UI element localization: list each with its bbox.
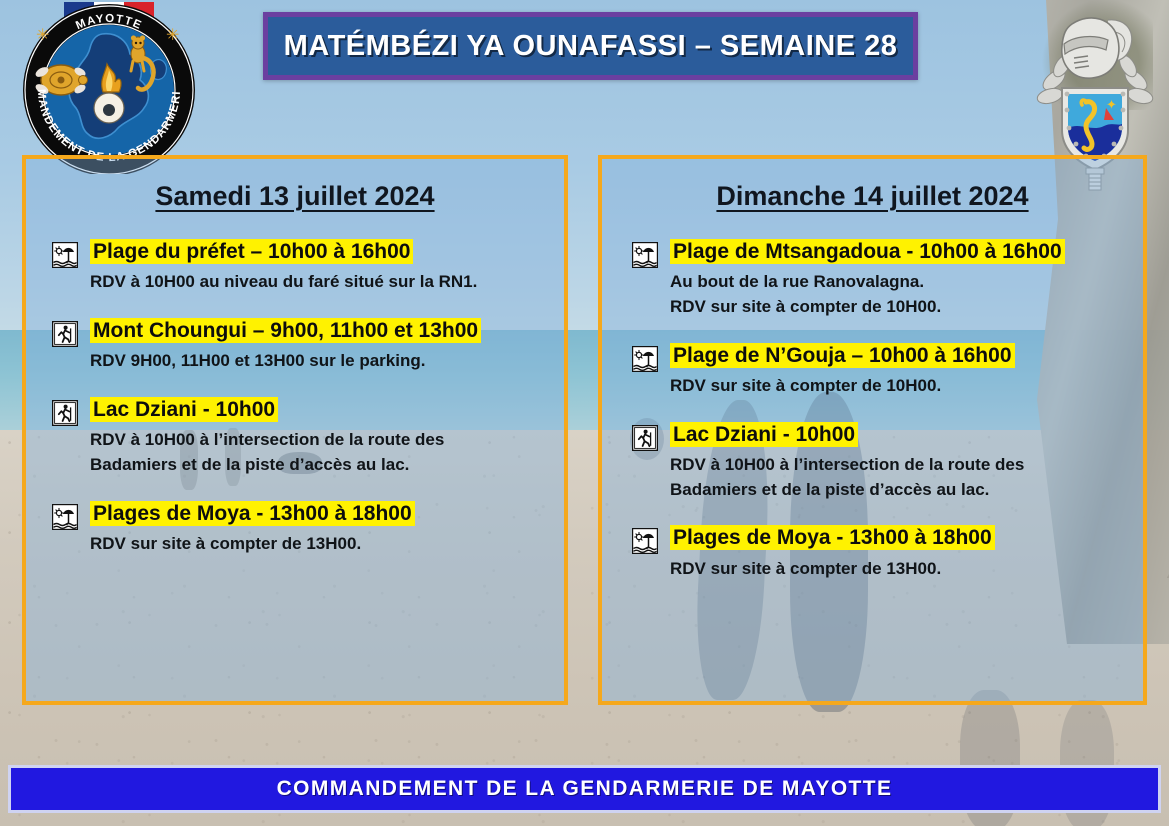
event-item: Lac Dziani - 10h00RDV à 10H00 à l’inters…: [26, 396, 564, 478]
event-title: Plage du préfet – 10h00 à 16h00: [90, 239, 413, 264]
event-body: Plage du préfet – 10h00 à 16h00RDV à 10H…: [90, 238, 564, 295]
event-item: Plages de Moya - 13h00 à 18h00RDV sur si…: [26, 500, 564, 557]
event-detail-line: RDV à 10H00 à l’intersection de la route…: [90, 428, 564, 453]
page-title: MATÉMBÉZI YA OUNAFASSI – SEMAINE 28: [284, 30, 898, 63]
footer-banner: COMMANDEMENT DE LA GENDARMERIE DE MAYOTT…: [8, 765, 1161, 813]
event-detail-line: Badamiers et de la piste d’accès au lac.: [670, 478, 1143, 503]
event-title: Lac Dziani - 10h00: [90, 397, 278, 422]
beach-icon: [52, 504, 78, 530]
day-panel-saturday: Samedi 13 juillet 2024 Plage du préfet –…: [22, 155, 568, 705]
event-title: Plage de N’Gouja – 10h00 à 16h00: [670, 343, 1015, 368]
event-body: Plage de Mtsangadoua - 10h00 à 16h00Au b…: [670, 238, 1143, 320]
event-item: Plage du préfet – 10h00 à 16h00RDV à 10H…: [26, 238, 564, 295]
event-title: Mont Choungui – 9h00, 11h00 et 13h00: [90, 318, 481, 343]
event-body: Plage de N’Gouja – 10h00 à 16h00RDV sur …: [670, 342, 1143, 399]
event-details: RDV à 10H00 à l’intersection de la route…: [670, 453, 1143, 502]
day-panel-sunday: Dimanche 14 juillet 2024 Plage de Mtsang…: [598, 155, 1147, 705]
event-detail-line: RDV sur site à compter de 13H00.: [90, 532, 564, 557]
event-item: Plages de Moya - 13h00 à 18h00RDV sur si…: [602, 524, 1143, 581]
event-details: RDV sur site à compter de 13H00.: [90, 532, 564, 557]
beach-icon: [52, 242, 78, 268]
hiker-icon: [632, 425, 658, 451]
gendarmerie-mayotte-roundel-logo: ✳ ✳ MAYOTTE COMMANDEMENT DE LA GENDARMER…: [6, 2, 211, 174]
event-details: RDV 9H00, 11H00 et 13H00 sur le parking.: [90, 349, 564, 374]
hiker-icon: [52, 400, 78, 426]
beach-icon: [632, 528, 658, 554]
day-heading-saturday: Samedi 13 juillet 2024: [26, 181, 564, 212]
event-list-saturday: Plage du préfet – 10h00 à 16h00RDV à 10H…: [26, 238, 564, 557]
event-detail-line: RDV à 10H00 au niveau du faré situé sur …: [90, 270, 564, 295]
event-item: Lac Dziani - 10h00RDV à 10H00 à l’inters…: [602, 421, 1143, 503]
event-body: Plages de Moya - 13h00 à 18h00RDV sur si…: [90, 500, 564, 557]
event-title: Plages de Moya - 13h00 à 18h00: [90, 501, 415, 526]
event-body: Plages de Moya - 13h00 à 18h00RDV sur si…: [670, 524, 1143, 581]
knight-helmet-icon: [1062, 18, 1119, 78]
event-detail-line: RDV sur site à compter de 10H00.: [670, 295, 1143, 320]
event-body: Lac Dziani - 10h00RDV à 10H00 à l’inters…: [670, 421, 1143, 503]
event-body: Mont Choungui – 9h00, 11h00 et 13h00RDV …: [90, 317, 564, 374]
beach-icon: [632, 346, 658, 372]
svg-text:✳: ✳: [36, 25, 49, 44]
title-banner: MATÉMBÉZI YA OUNAFASSI – SEMAINE 28: [263, 12, 918, 80]
event-details: RDV à 10H00 au niveau du faré situé sur …: [90, 270, 564, 295]
event-detail-line: Badamiers et de la piste d’accès au lac.: [90, 453, 564, 478]
event-detail-line: RDV 9H00, 11H00 et 13H00 sur le parking.: [90, 349, 564, 374]
event-body: Lac Dziani - 10h00RDV à 10H00 à l’inters…: [90, 396, 564, 478]
event-details: RDV sur site à compter de 10H00.: [670, 374, 1143, 399]
footer-text: COMMANDEMENT DE LA GENDARMERIE DE MAYOTT…: [277, 777, 893, 801]
event-list-sunday: Plage de Mtsangadoua - 10h00 à 16h00Au b…: [602, 238, 1143, 581]
event-item: Mont Choungui – 9h00, 11h00 et 13h00RDV …: [26, 317, 564, 374]
event-detail-line: RDV sur site à compter de 13H00.: [670, 557, 1143, 582]
event-title: Lac Dziani - 10h00: [670, 422, 858, 447]
day-heading-sunday: Dimanche 14 juillet 2024: [602, 181, 1143, 212]
event-details: RDV sur site à compter de 13H00.: [670, 557, 1143, 582]
event-detail-line: RDV sur site à compter de 10H00.: [670, 374, 1143, 399]
event-item: Plage de Mtsangadoua - 10h00 à 16h00Au b…: [602, 238, 1143, 320]
event-details: Au bout de la rue Ranovalagna.RDV sur si…: [670, 270, 1143, 319]
event-detail-line: Au bout de la rue Ranovalagna.: [670, 270, 1143, 295]
hiker-icon: [52, 321, 78, 347]
event-title: Plages de Moya - 13h00 à 18h00: [670, 525, 995, 550]
event-title: Plage de Mtsangadoua - 10h00 à 16h00: [670, 239, 1065, 264]
beach-icon: [632, 242, 658, 268]
event-item: Plage de N’Gouja – 10h00 à 16h00RDV sur …: [602, 342, 1143, 399]
event-detail-line: RDV à 10H00 à l’intersection de la route…: [670, 453, 1143, 478]
svg-text:✳: ✳: [166, 25, 179, 44]
event-details: RDV à 10H00 à l’intersection de la route…: [90, 428, 564, 477]
